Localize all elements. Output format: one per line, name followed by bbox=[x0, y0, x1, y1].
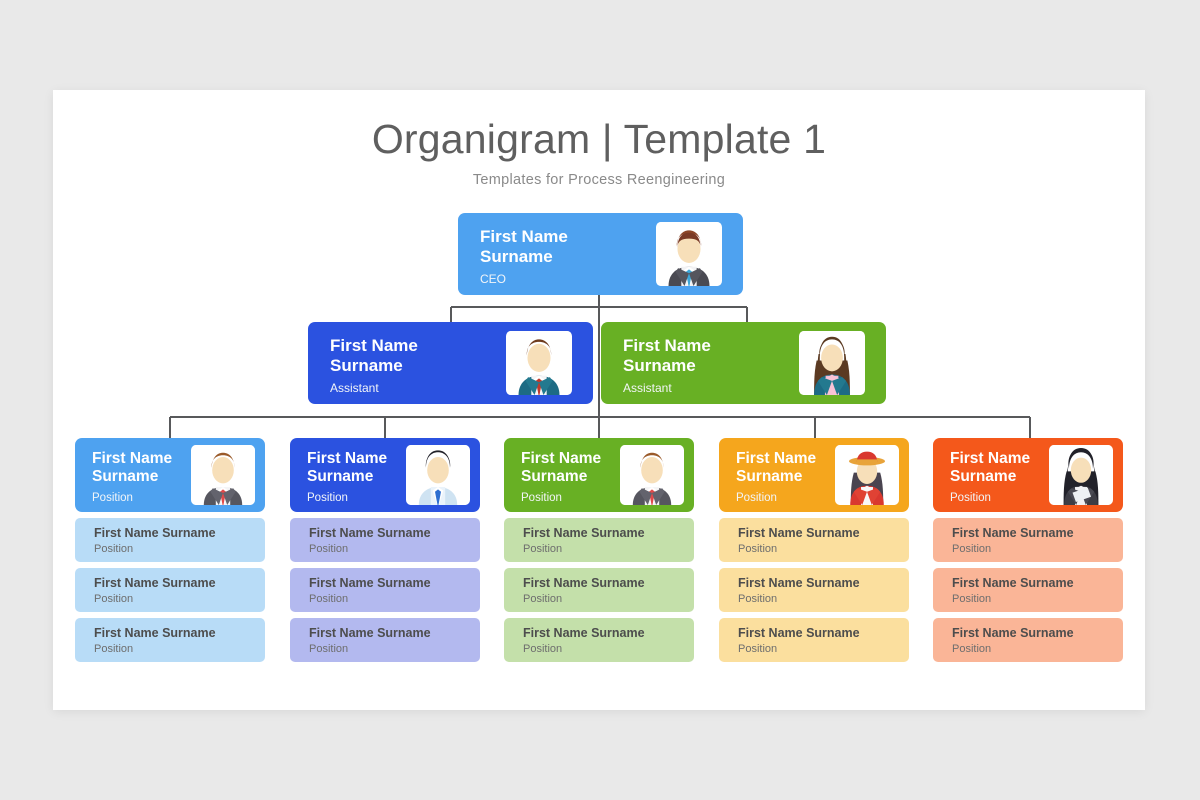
node-assistant-right[interactable]: First Name Surname Assistant bbox=[601, 322, 886, 404]
avatar-column-1 bbox=[191, 445, 255, 505]
report-role: Position bbox=[523, 593, 562, 605]
list-item[interactable]: First Name Surname Position bbox=[75, 518, 265, 562]
report-role: Position bbox=[94, 643, 133, 655]
report-role: Position bbox=[738, 593, 777, 605]
list-item[interactable]: First Name Surname Position bbox=[933, 568, 1123, 612]
report-name: First Name Surname bbox=[952, 576, 1074, 590]
column-2-name: First Name Surname bbox=[307, 450, 387, 486]
report-name: First Name Surname bbox=[94, 576, 216, 590]
report-role: Position bbox=[952, 643, 991, 655]
column-3-role: Position bbox=[521, 492, 562, 504]
list-item[interactable]: First Name Surname Position bbox=[290, 518, 480, 562]
avatar-ceo bbox=[656, 222, 722, 286]
list-item[interactable]: First Name Surname Position bbox=[75, 618, 265, 662]
column-2-role: Position bbox=[307, 492, 348, 504]
column-1-name: First Name Surname bbox=[92, 450, 172, 486]
ceo-name: First Name Surname bbox=[480, 227, 568, 266]
report-name: First Name Surname bbox=[738, 576, 860, 590]
column-5: First Name Surname Position First Name S… bbox=[933, 438, 1123, 662]
column-1-role: Position bbox=[92, 492, 133, 504]
report-role: Position bbox=[738, 643, 777, 655]
ceo-role: CEO bbox=[480, 272, 506, 286]
report-name: First Name Surname bbox=[94, 626, 216, 640]
list-item[interactable]: First Name Surname Position bbox=[504, 568, 694, 612]
report-name: First Name Surname bbox=[309, 526, 431, 540]
assistant-right-role: Assistant bbox=[623, 381, 672, 395]
column-5-name: First Name Surname bbox=[950, 450, 1030, 486]
report-name: First Name Surname bbox=[523, 576, 645, 590]
slide-canvas: Organigram | Template 1 Templates for Pr… bbox=[53, 90, 1145, 710]
avatar-assistant-right bbox=[799, 331, 865, 395]
assistant-right-name: First Name Surname bbox=[623, 336, 711, 375]
node-column-2-head[interactable]: First Name Surname Position bbox=[290, 438, 480, 512]
report-name: First Name Surname bbox=[309, 576, 431, 590]
column-2: First Name Surname Position First Name S… bbox=[290, 438, 480, 662]
avatar-column-5 bbox=[1049, 445, 1113, 505]
list-item[interactable]: First Name Surname Position bbox=[933, 518, 1123, 562]
page-subtitle: Templates for Process Reengineering bbox=[53, 172, 1145, 188]
report-name: First Name Surname bbox=[94, 526, 216, 540]
report-role: Position bbox=[309, 593, 348, 605]
column-3-name: First Name Surname bbox=[521, 450, 601, 486]
report-role: Position bbox=[523, 543, 562, 555]
column-5-role: Position bbox=[950, 492, 991, 504]
column-4-name: First Name Surname bbox=[736, 450, 816, 486]
list-item[interactable]: First Name Surname Position bbox=[290, 568, 480, 612]
report-role: Position bbox=[952, 543, 991, 555]
avatar-assistant-left bbox=[506, 331, 572, 395]
report-name: First Name Surname bbox=[738, 626, 860, 640]
list-item[interactable]: First Name Surname Position bbox=[719, 518, 909, 562]
assistant-left-name: First Name Surname bbox=[330, 336, 418, 375]
avatar-column-2 bbox=[406, 445, 470, 505]
report-role: Position bbox=[309, 643, 348, 655]
report-name: First Name Surname bbox=[738, 526, 860, 540]
report-name: First Name Surname bbox=[952, 526, 1074, 540]
node-column-4-head[interactable]: First Name Surname Position bbox=[719, 438, 909, 512]
column-4-role: Position bbox=[736, 492, 777, 504]
list-item[interactable]: First Name Surname Position bbox=[504, 518, 694, 562]
node-column-3-head[interactable]: First Name Surname Position bbox=[504, 438, 694, 512]
report-name: First Name Surname bbox=[309, 626, 431, 640]
list-item[interactable]: First Name Surname Position bbox=[719, 568, 909, 612]
avatar-column-3 bbox=[620, 445, 684, 505]
report-name: First Name Surname bbox=[523, 626, 645, 640]
report-role: Position bbox=[523, 643, 562, 655]
report-role: Position bbox=[94, 543, 133, 555]
assistant-left-role: Assistant bbox=[330, 381, 379, 395]
report-name: First Name Surname bbox=[523, 526, 645, 540]
list-item[interactable]: First Name Surname Position bbox=[504, 618, 694, 662]
list-item[interactable]: First Name Surname Position bbox=[719, 618, 909, 662]
page-title: Organigram | Template 1 bbox=[53, 116, 1145, 163]
list-item[interactable]: First Name Surname Position bbox=[933, 618, 1123, 662]
list-item[interactable]: First Name Surname Position bbox=[75, 568, 265, 612]
node-column-1-head[interactable]: First Name Surname Position bbox=[75, 438, 265, 512]
report-role: Position bbox=[952, 593, 991, 605]
column-4: First Name Surname Position First Name S… bbox=[719, 438, 909, 662]
node-assistant-left[interactable]: First Name Surname Assistant bbox=[308, 322, 593, 404]
report-role: Position bbox=[309, 543, 348, 555]
report-name: First Name Surname bbox=[952, 626, 1074, 640]
list-item[interactable]: First Name Surname Position bbox=[290, 618, 480, 662]
column-1: First Name Surname Position First Name S… bbox=[75, 438, 265, 662]
column-3: First Name Surname Position First Name S… bbox=[504, 438, 694, 662]
node-column-5-head[interactable]: First Name Surname Position bbox=[933, 438, 1123, 512]
node-ceo[interactable]: First Name Surname CEO bbox=[458, 213, 743, 295]
report-role: Position bbox=[94, 593, 133, 605]
avatar-column-4 bbox=[835, 445, 899, 505]
report-role: Position bbox=[738, 543, 777, 555]
